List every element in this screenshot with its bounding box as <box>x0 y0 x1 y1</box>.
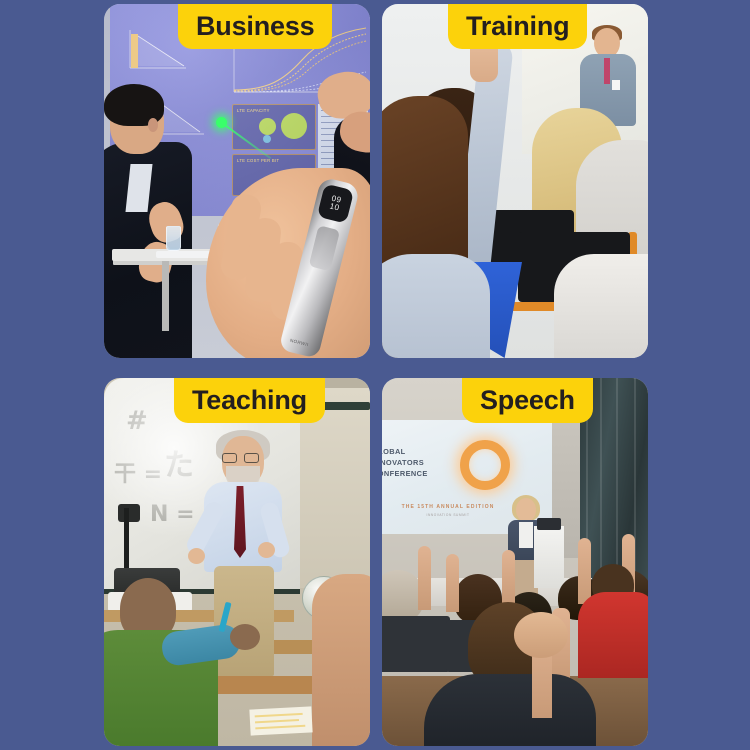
scenario-panel-training[interactable]: Training <box>382 4 648 358</box>
lte-capacity-card: LTE CAPACITY <box>232 104 316 150</box>
panel-label-training: Training <box>448 4 587 49</box>
scenario-panel-business[interactable]: LTE CAPACITY LTE COST PER BIT <box>104 4 370 358</box>
business-photo: LTE CAPACITY LTE COST PER BIT <box>104 4 370 358</box>
slide-footnote: INNOVATION SUMMIT <box>410 513 486 517</box>
panel-label-business-text: Business <box>196 13 314 40</box>
slide-title-line-1: GLOBAL <box>382 446 442 457</box>
training-photo <box>382 4 648 358</box>
clicker-display-line-2: 10 <box>329 202 341 213</box>
panel-label-business: Business <box>178 4 332 49</box>
water-glass <box>166 226 181 251</box>
student-right-arm <box>312 574 370 746</box>
audience-member-red-jacket <box>578 592 648 678</box>
capacity-bubble-tiny <box>263 135 271 143</box>
lte-cost-title: LTE COST PER BIT <box>237 158 279 163</box>
attendee-applauding <box>104 90 198 358</box>
projector-arm <box>124 508 129 572</box>
panel-label-speech-text: Speech <box>480 387 575 414</box>
panel-label-training-text: Training <box>466 13 569 40</box>
scenario-panel-speech[interactable]: GLOBAL INNOVATORS CONFERENCE THE 15TH AN… <box>382 378 648 746</box>
capacity-bubble-large <box>281 113 307 139</box>
table-leg <box>162 261 169 331</box>
projector-head <box>118 504 140 522</box>
lectern <box>534 526 564 588</box>
slide-title-line-2: INNOVATORS <box>382 457 442 468</box>
laser-pointer-dot <box>216 117 227 128</box>
scenario-grid: LTE CAPACITY LTE COST PER BIT <box>0 0 750 750</box>
scenario-panel-teaching[interactable]: # 干 = た N = <box>104 378 370 746</box>
student-hand <box>230 624 260 650</box>
slide-title: GLOBAL INNOVATORS CONFERENCE <box>382 446 442 479</box>
slide-title-line-3: CONFERENCE <box>382 468 442 479</box>
conference-logo-ring <box>460 440 510 490</box>
panel-label-speech: Speech <box>462 378 593 423</box>
capacity-bubble-small <box>259 118 276 135</box>
panel-label-teaching: Teaching <box>174 378 325 423</box>
slide-subtitle: THE 15TH ANNUAL EDITION <box>388 504 508 510</box>
lte-capacity-title: LTE CAPACITY <box>237 108 270 113</box>
attendee-grey-shirt <box>554 254 648 358</box>
attendee-foreground <box>382 96 468 358</box>
panel-label-teaching-text: Teaching <box>192 387 307 414</box>
speech-photo: GLOBAL INNOVATORS CONFERENCE THE 15TH AN… <box>382 378 648 746</box>
notebook-paper <box>249 706 312 735</box>
teaching-photo: # 干 = た N = <box>104 378 370 746</box>
